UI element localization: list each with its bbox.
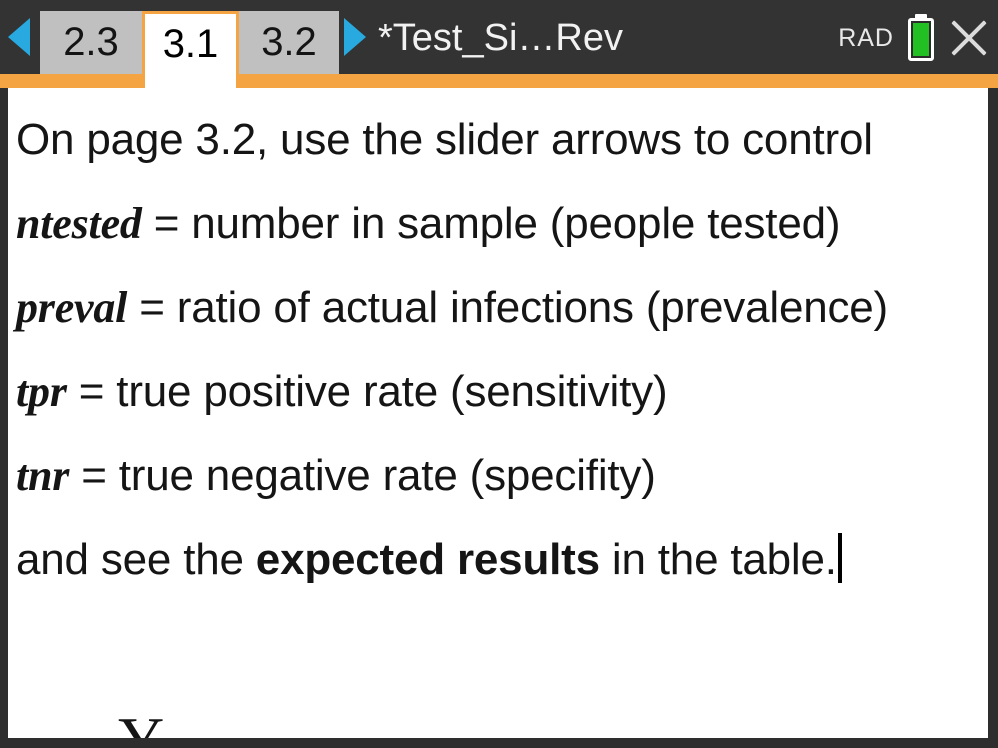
- clipped-glyph: Y: [118, 708, 164, 738]
- variable-name: ntested: [16, 199, 142, 248]
- status-indicators: RAD: [838, 10, 990, 66]
- active-tab-notch: [145, 74, 236, 88]
- note-text: = true negative rate (specifity): [69, 451, 655, 500]
- header-bar: 2.3 3.1 3.2 *Test_Si…Rev RAD: [0, 0, 998, 74]
- document-title: *Test_Si…Rev: [378, 12, 623, 64]
- note-line: and see the expected results in the tabl…: [16, 518, 982, 602]
- note-text: and see the: [16, 535, 256, 584]
- page-frame: On page 3.2, use the slider arrows to co…: [0, 88, 998, 748]
- note-text: On page 3.2, use the slider arrows to co…: [16, 115, 873, 164]
- variable-name: tnr: [16, 451, 69, 500]
- notes-page[interactable]: On page 3.2, use the slider arrows to co…: [8, 88, 988, 738]
- battery-icon: [908, 18, 934, 61]
- note-line: tpr = true positive rate (sensitivity): [16, 350, 982, 434]
- note-text: in the table.: [600, 535, 837, 584]
- note-text: = number in sample (people tested): [142, 199, 841, 248]
- next-page-arrow-icon[interactable]: [344, 18, 366, 56]
- calculator-screen: 2.3 3.1 3.2 *Test_Si…Rev RAD On page 3.2…: [0, 0, 998, 748]
- tab-label: 3.1: [163, 22, 219, 67]
- note-line: On page 3.2, use the slider arrows to co…: [16, 98, 982, 182]
- previous-page-arrow-icon[interactable]: [8, 18, 30, 56]
- tab-page-2-3[interactable]: 2.3: [40, 11, 142, 74]
- text-cursor: [838, 533, 842, 583]
- note-line: preval = ratio of actual infections (pre…: [16, 266, 982, 350]
- variable-name: tpr: [16, 367, 67, 416]
- note-line: ntested = number in sample (people teste…: [16, 182, 982, 266]
- variable-name: preval: [16, 283, 127, 332]
- note-text: = ratio of actual infections (prevalence…: [127, 283, 888, 332]
- tab-page-3-1[interactable]: 3.1: [142, 11, 239, 74]
- tab-page-3-2[interactable]: 3.2: [239, 11, 339, 74]
- notes-text-body[interactable]: On page 3.2, use the slider arrows to co…: [16, 98, 982, 602]
- note-text: = true positive rate (sensitivity): [67, 367, 668, 416]
- note-line: tnr = true negative rate (specifity): [16, 434, 982, 518]
- battery-level-fill: [913, 23, 929, 56]
- tab-label: 3.2: [261, 20, 317, 65]
- close-icon[interactable]: [948, 17, 990, 59]
- emphasis-text: expected results: [256, 535, 600, 584]
- angle-mode-indicator[interactable]: RAD: [838, 26, 894, 51]
- tab-label: 2.3: [63, 20, 119, 65]
